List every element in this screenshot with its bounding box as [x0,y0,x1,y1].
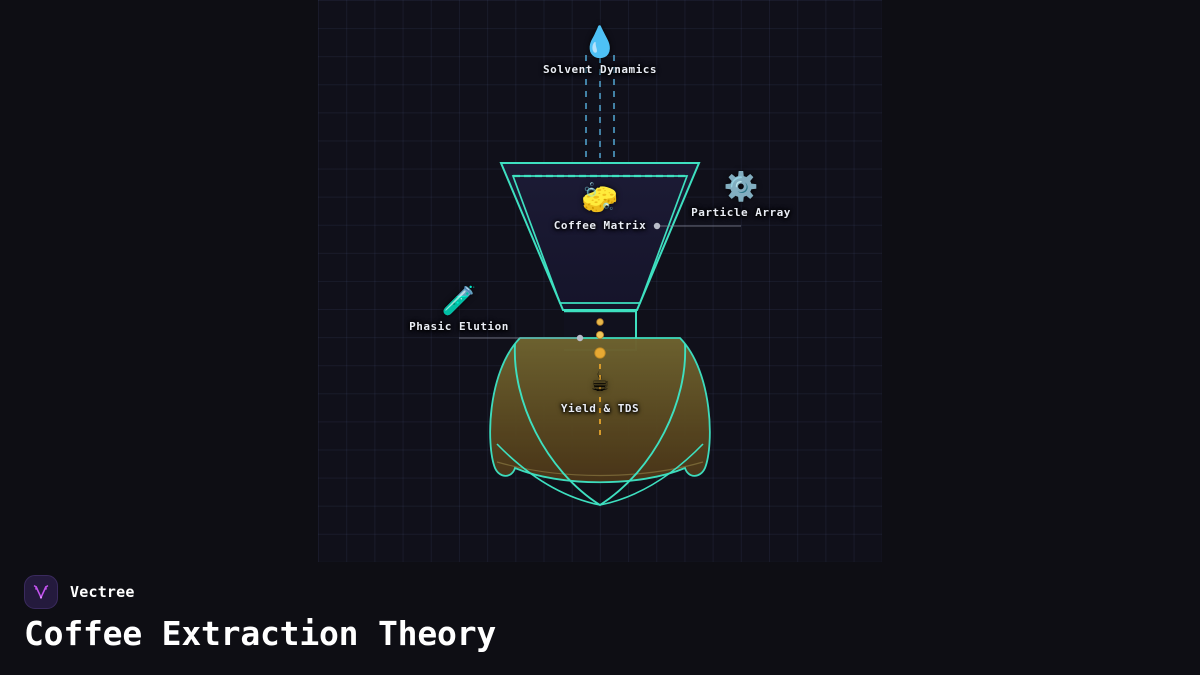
water-droplet-icon: 💧 [581,28,618,58]
brand-row[interactable]: Vectree [24,575,135,609]
node-phasic-elution[interactable]: 🧪 Phasic Elution [409,287,509,333]
node-label: Coffee Matrix [554,219,647,232]
gear-icon: ⚙️ [724,173,759,201]
node-particle-array[interactable]: ⚙️ Particle Array [691,173,791,219]
vectree-logo-icon [24,575,58,609]
footer: Vectree Coffee Extraction Theory vectree… [0,562,1200,675]
diagram-vector-art [0,0,1200,562]
brand-name: Vectree [70,583,135,601]
node-label: Yield & TDS [561,402,639,415]
node-label: Phasic Elution [409,320,509,333]
node-yield-and-tds[interactable]: ☕ Yield & TDS [561,367,639,415]
sponge-icon: 🧽 [581,184,618,214]
node-coffee-matrix[interactable]: 🧽 Coffee Matrix [554,184,647,232]
test-tube-icon: 🧪 [442,287,477,315]
node-label: Solvent Dynamics [543,63,657,76]
page-title: Coffee Extraction Theory [24,614,496,653]
coffee-cup-icon: ☕ [591,367,609,397]
screenshot-root: 💧 Solvent Dynamics 🧽 Coffee Matrix ⚙️ Pa… [0,0,1200,675]
node-label: Particle Array [691,206,791,219]
node-solvent-dynamics[interactable]: 💧 Solvent Dynamics [543,28,657,76]
